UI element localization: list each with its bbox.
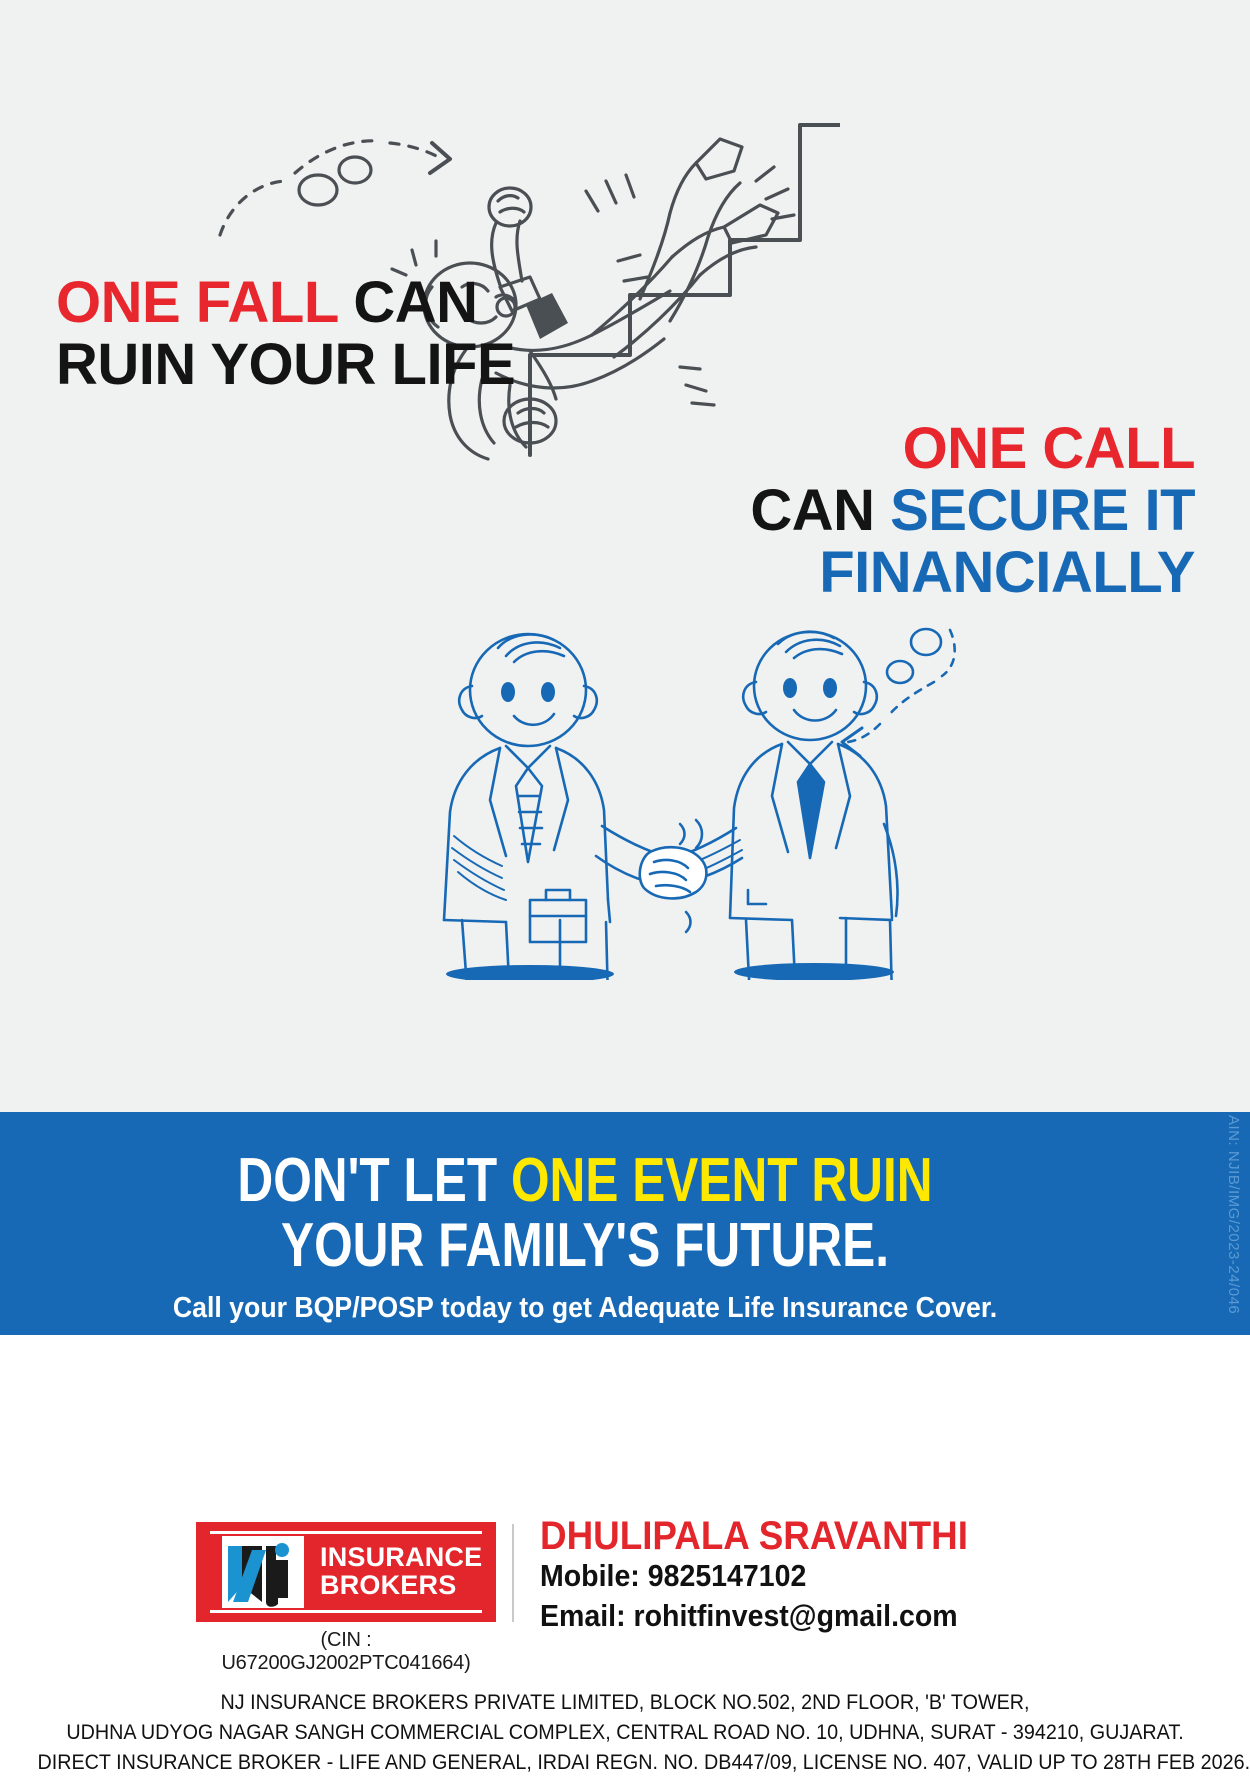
call-headline-can: CAN [750,478,890,543]
fall-headline-line1: ONE FALL CAN [56,272,515,334]
man-falling-down-stairs-icon [200,55,840,465]
nj-monogram-icon [222,1536,304,1608]
banner-headline-line2: YOUR FAMILY'S FUTURE. [117,1215,1053,1277]
insurance-awareness-poster: ONE FALL CAN RUIN YOUR LIFE ONE CALL CAN… [0,0,1250,1780]
fall-headline-red: ONE FALL [56,270,338,335]
banner-divider [52,1341,1114,1343]
call-headline-line3: FINANCIALLY [750,542,1195,604]
contact-vertical-divider [512,1524,514,1622]
agent-contact-details: DHULIPALA SRAVANTHI Mobile: 9825147102 E… [540,1516,1005,1635]
footer-line-3: DIRECT INSURANCE BROKER - LIFE AND GENER… [38,1748,1213,1778]
call-headline: ONE CALL CAN SECURE IT FINANCIALLY [750,418,1195,604]
agent-mobile[interactable]: Mobile: 9825147102 [540,1556,968,1596]
banner-cta-text: Call your BQP/POSP today to get Adequate… [47,1292,1123,1325]
cin-number: (CIN : U67200GJ2002PTC041664) [196,1629,496,1675]
company-address-footer: NJ INSURANCE BROKERS PRIVATE LIMITED, BL… [0,1688,1250,1777]
footer-line-1: NJ INSURANCE BROKERS PRIVATE LIMITED, BL… [38,1688,1213,1718]
businessmen-handshake-icon [410,600,970,980]
banner-headline-yellow: ONE EVENT RUIN [511,1146,933,1215]
contact-strip: INSURANCE BROKERS (CIN : U67200GJ2002PTC… [0,1500,1250,1685]
footer-line-2: UDHNA UDYOG NAGAR SANGH COMMERCIAL COMPL… [38,1718,1213,1748]
banner-headline-white: DON'T LET [237,1146,511,1215]
fall-headline-line2: RUIN YOUR LIFE [56,334,515,396]
logo-wordmark-line1: INSURANCE [320,1544,482,1572]
nj-insurance-brokers-logo: INSURANCE BROKERS (CIN : U67200GJ2002PTC… [196,1522,496,1675]
logo-wordmark: INSURANCE BROKERS [320,1544,482,1600]
fall-headline-black: CAN [338,270,478,335]
banner-headline-line1: DON'T LET ONE EVENT RUIN [117,1150,1053,1212]
fall-headline: ONE FALL CAN RUIN YOUR LIFE [56,272,515,396]
call-headline-secure: SECURE IT [890,478,1195,543]
logo-rule-bottom [210,1610,482,1613]
agent-email[interactable]: Email: rohitfinvest@gmail.com [540,1596,968,1636]
ain-code: AIN: NJIB/IMG/2023-24/046 [1225,1115,1242,1325]
disclaimer-text: Disclaimer: This material is intended fo… [60,1355,1106,1437]
logo-wordmark-line2: BROKERS [320,1572,482,1600]
call-headline-line1: ONE CALL [750,418,1195,480]
logo-rule-top [210,1531,482,1534]
hero-section: ONE FALL CAN RUIN YOUR LIFE ONE CALL CAN… [0,0,1250,1112]
agent-name: DHULIPALA SRAVANTHI [540,1516,968,1556]
logo-red-box: INSURANCE BROKERS [196,1522,496,1622]
call-headline-line2: CAN SECURE IT [750,480,1195,542]
